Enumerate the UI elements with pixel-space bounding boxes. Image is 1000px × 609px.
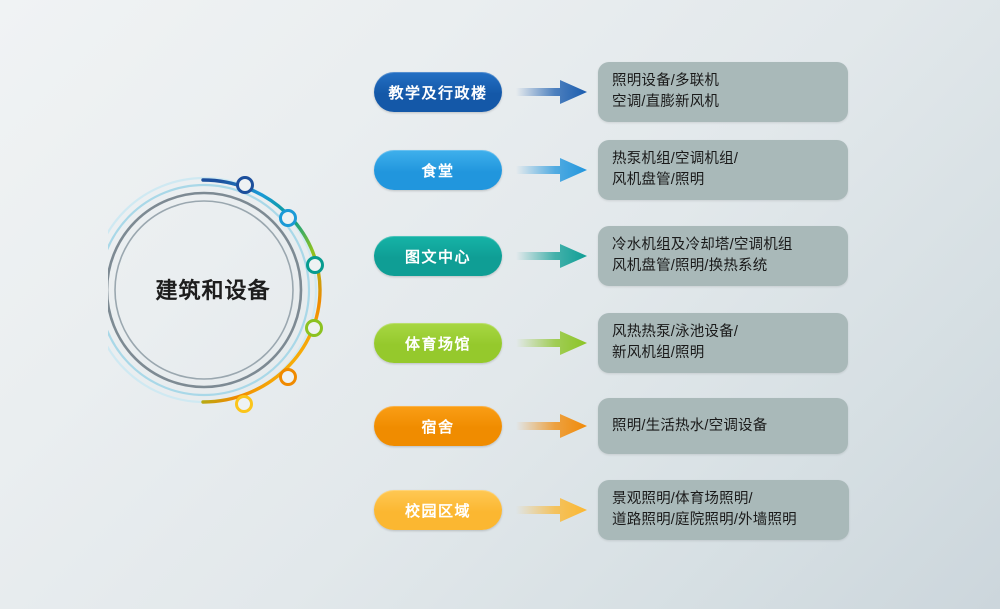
category-pill-0[interactable]: 教学及行政楼 bbox=[374, 72, 502, 112]
detail-box-3: 风热热泵/泳池设备/ 新风机组/照明 bbox=[598, 313, 848, 373]
arc-node-3 bbox=[308, 258, 323, 273]
arrow-right-icon bbox=[516, 241, 588, 271]
arc-node-6 bbox=[237, 397, 252, 412]
category-pill-4[interactable]: 宿舍 bbox=[374, 406, 502, 446]
detail-box-4: 照明/生活热水/空调设备 bbox=[598, 398, 848, 454]
category-pill-label: 校园区域 bbox=[405, 500, 471, 521]
arc-node-5 bbox=[281, 370, 296, 385]
detail-line: 风机盘管/照明/换热系统 bbox=[612, 256, 834, 277]
center-label: 建筑和设备 bbox=[108, 273, 318, 305]
arc-node-2 bbox=[281, 211, 296, 226]
category-pill-5[interactable]: 校园区域 bbox=[374, 490, 502, 530]
detail-line: 新风机组/照明 bbox=[612, 343, 834, 364]
detail-line: 热泵机组/空调机组/ bbox=[612, 149, 834, 170]
category-pill-2[interactable]: 图文中心 bbox=[374, 236, 502, 276]
arrow-right-icon bbox=[516, 411, 588, 441]
diagram-row: 校园区域 景观照明/体育场照明/ 道路照明/庭院照明/外墙照明 bbox=[374, 480, 844, 540]
arrow-right-icon bbox=[516, 328, 588, 358]
detail-box-2: 冷水机组及冷却塔/空调机组 风机盘管/照明/换热系统 bbox=[598, 226, 848, 286]
detail-line: 照明/生活热水/空调设备 bbox=[612, 416, 834, 437]
detail-line: 风热热泵/泳池设备/ bbox=[612, 322, 834, 343]
arrow-right-icon bbox=[516, 495, 588, 525]
detail-line: 冷水机组及冷却塔/空调机组 bbox=[612, 235, 834, 256]
category-pill-label: 图文中心 bbox=[405, 246, 471, 267]
detail-line: 风机盘管/照明 bbox=[612, 170, 834, 191]
detail-box-5: 景观照明/体育场照明/ 道路照明/庭院照明/外墙照明 bbox=[598, 480, 849, 540]
detail-box-0: 照明设备/多联机 空调/直膨新风机 bbox=[598, 62, 848, 122]
diagram-row: 教学及行政楼 照明设备/多联机 空调/直膨新风机 bbox=[374, 62, 844, 122]
diagram-row: 宿舍 照明/生活热水/空调设备 bbox=[374, 396, 844, 456]
diagram-row: 体育场馆 风热热泵/泳池设备/ 新风机组/照明 bbox=[374, 313, 844, 373]
detail-box-1: 热泵机组/空调机组/ 风机盘管/照明 bbox=[598, 140, 848, 200]
detail-line: 照明设备/多联机 bbox=[612, 71, 834, 92]
arrow-right-icon bbox=[516, 155, 588, 185]
detail-line: 空调/直膨新风机 bbox=[612, 92, 834, 113]
arc-node-1 bbox=[238, 178, 253, 193]
center-emblem: 建筑和设备 bbox=[108, 155, 368, 425]
detail-line: 道路照明/庭院照明/外墙照明 bbox=[612, 510, 835, 531]
detail-line: 景观照明/体育场照明/ bbox=[612, 489, 835, 510]
category-pill-label: 宿舍 bbox=[421, 416, 454, 437]
category-pill-label: 食堂 bbox=[421, 160, 454, 181]
category-pill-1[interactable]: 食堂 bbox=[374, 150, 502, 190]
category-pill-3[interactable]: 体育场馆 bbox=[374, 323, 502, 363]
arc-node-4 bbox=[307, 321, 322, 336]
category-pill-label: 体育场馆 bbox=[405, 333, 471, 354]
arrow-right-icon bbox=[516, 77, 588, 107]
category-pill-label: 教学及行政楼 bbox=[388, 82, 487, 103]
diagram-row: 食堂 热泵机组/空调机组/ 风机盘管/照明 bbox=[374, 140, 844, 200]
diagram-row: 图文中心 冷水机组及冷却塔/空调机组 风机盘管/照明/换热系统 bbox=[374, 226, 844, 286]
